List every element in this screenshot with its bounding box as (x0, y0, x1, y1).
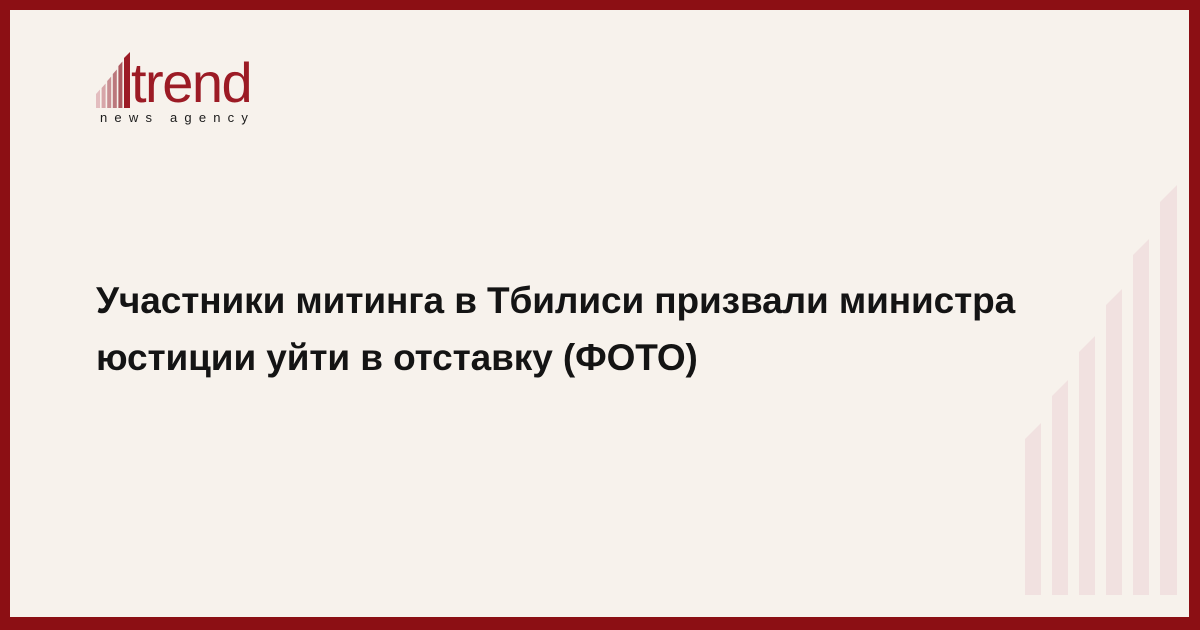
card-canvas: trend news agency Участники митинга в Тб… (10, 10, 1189, 617)
logo-lockup: trend (96, 46, 396, 108)
logo-wordmark: trend (131, 55, 251, 111)
trend-bars-mark-icon (96, 52, 130, 108)
article-share-card: trend news agency Участники митинга в Тб… (0, 0, 1200, 630)
brand-logo[interactable]: trend news agency (96, 46, 396, 125)
article-headline: Участники митинга в Тбилиси призвали мин… (96, 272, 1071, 386)
